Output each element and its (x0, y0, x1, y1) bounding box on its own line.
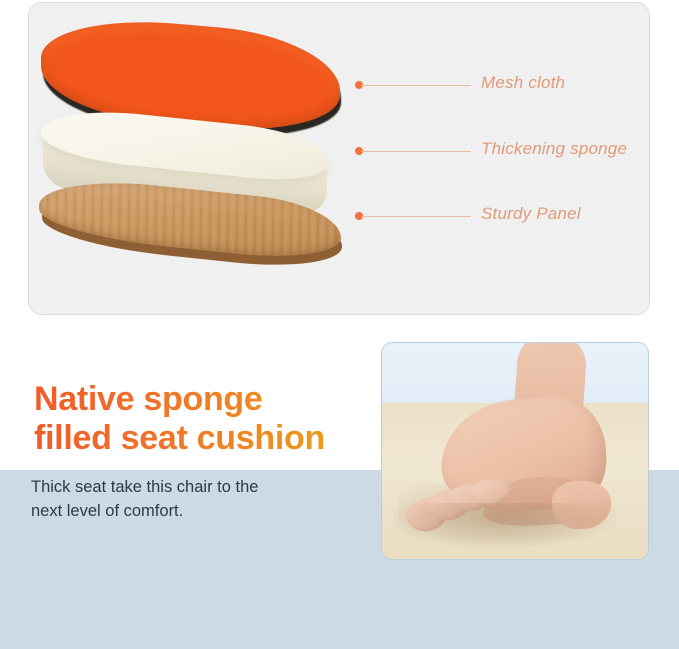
callout-leader-line (361, 216, 471, 217)
layer-sturdy-panel (39, 189, 349, 281)
callout-label-sturdy-panel: Sturdy Panel (481, 204, 581, 224)
callout-leader-line (361, 151, 471, 152)
promo-body-text: Thick seat take this chair to the next l… (31, 476, 351, 524)
body-line-1: Thick seat take this chair to the (31, 476, 351, 500)
exploded-cushion-diagram-card: Mesh cloth Thickening sponge Sturdy Pane… (28, 2, 650, 315)
headline-line-2: filled seat cushion (34, 419, 374, 458)
promo-headline: Native sponge filled seat cushion (34, 380, 374, 459)
body-line-2: next level of comfort. (31, 500, 351, 524)
callout-label-mesh-cloth: Mesh cloth (481, 73, 565, 93)
photo-contact-shadow (393, 503, 616, 546)
callout-label-thickening-sponge: Thickening sponge (481, 139, 627, 159)
foot-pressing-foam-photo (381, 342, 649, 560)
callout-leader-line (361, 85, 471, 86)
headline-line-1: Native sponge (34, 380, 374, 419)
